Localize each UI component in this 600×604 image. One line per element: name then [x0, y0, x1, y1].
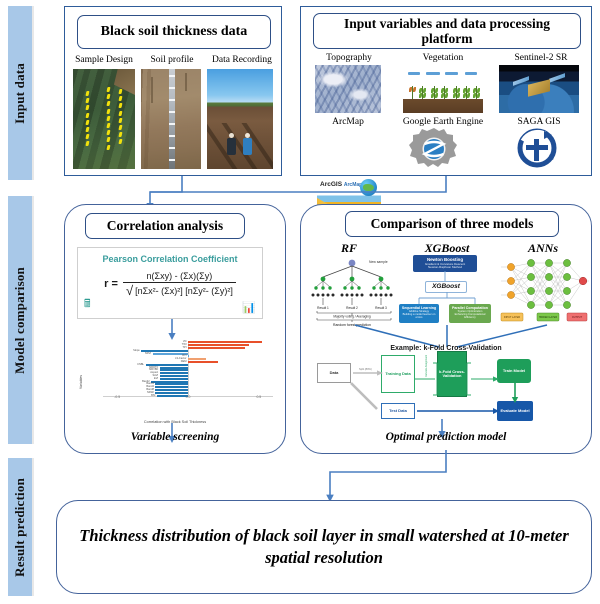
connector-formula-to-chart — [165, 319, 179, 341]
chart-category-label: DEM — [181, 361, 187, 363]
photo-sample-design — [73, 69, 135, 169]
cv-training-data-box: Training Data — [381, 355, 415, 393]
label-variable-screening: Variable screening — [65, 431, 285, 443]
chart-correlation-bars: Variables VDTWITPISlopeNDVIRVILS-FactorD… — [73, 339, 277, 425]
image-vegetation — [403, 65, 483, 113]
pearson-denominator: [nΣx²- (Σx)²] [nΣy²- (Σy)²] — [135, 286, 233, 296]
chart-x-tick: -0.5 — [114, 395, 120, 399]
svg-text:INPUT LAYER: INPUT LAYER — [504, 316, 520, 319]
caption-arcmap: ArcMap — [315, 117, 381, 127]
pearson-denominator-row: √ [nΣx²- (Σx)²] [nΣy²- (Σy)²] — [123, 282, 236, 297]
stage-label-result-prediction: Result prediction — [8, 458, 34, 596]
title-black-soil-thickness-data: Black soil thickness data — [77, 15, 271, 49]
caption-data-recording: Data Recording — [207, 55, 277, 65]
chart-bar: Aspect — [160, 372, 188, 374]
caption-topography: Topography — [311, 53, 387, 63]
chart-category-label: Slope — [133, 350, 140, 352]
panel-comparison-of-three-models: Comparison of three models RF XGBoost AN… — [300, 204, 592, 454]
chart-bar: SAVI — [160, 375, 188, 377]
chart-bar: DEM — [188, 361, 218, 363]
title-correlation-text: Correlation analysis — [107, 218, 223, 233]
chart-bar: TWI — [188, 344, 249, 346]
image-sentinel2-satellite — [499, 65, 579, 113]
caption-vegetation: Vegetation — [405, 53, 481, 63]
chart-bar: Band3 — [155, 383, 188, 385]
svg-text:Result 1: Result 1 — [317, 306, 329, 310]
caption-soil-profile: Soil profile — [141, 55, 203, 65]
chart-x-axis-label: Correlation with Black Soil Thickness — [73, 420, 277, 424]
pearson-card-title: Pearson Correlation Coefficient — [78, 254, 262, 264]
stage-label-input-data: Input data — [8, 6, 34, 180]
logo-arcmap-text: ArcGIS ArcMap — [320, 181, 362, 188]
pearson-formula: r = n(Σxy) - (Σx)(Σy) √ [nΣx²- (Σx)²] [n… — [78, 271, 262, 297]
chart-bar: LS-Factor — [188, 358, 206, 360]
cv-test-data-box: Test Data — [381, 403, 415, 419]
model-name-xgboost: XGBoost — [401, 241, 493, 256]
logo-saga-gis — [513, 125, 561, 171]
model-name-rf: RF — [313, 241, 385, 256]
stage-label-result-prediction-text: Result prediction — [12, 478, 28, 577]
calculator-icon: 🖩 — [84, 295, 91, 314]
cv-kfold-box: k-Fold Cross-Validation — [437, 351, 467, 397]
chart-bar: Band2 — [151, 381, 188, 383]
connector-model-to-result — [0, 450, 600, 506]
chart-bar: MRRTF — [160, 367, 188, 369]
cv-evaluate-model-box: Evaluate Model — [497, 401, 533, 421]
cv-data-box: Data — [317, 363, 351, 383]
chart-y-axis-label: Variables — [79, 375, 83, 389]
bar-chart-icon: 📊 — [242, 301, 256, 314]
svg-text:Result 3: Result 3 — [375, 306, 387, 310]
card-pearson-correlation: Pearson Correlation Coefficient r = n(Σx… — [77, 247, 263, 319]
svg-text:Result 2: Result 2 — [346, 306, 358, 310]
chart-bar: RVI — [188, 355, 189, 357]
image-topography — [315, 65, 381, 113]
svg-text:OUTPUT: OUTPUT — [572, 316, 583, 319]
panel-result-prediction: Thickness distribution of black soil lay… — [56, 500, 592, 594]
title-input-variables: Input variables and data processing plat… — [313, 13, 581, 49]
xgboost-newton-boosting-box: Newton Boosting Gradient & Curvature Des… — [413, 255, 477, 272]
chart-x-tick: 0.5 — [256, 395, 261, 399]
title-input-variables-text: Input variables and data processing plat… — [320, 16, 574, 46]
chart-bar: VD — [188, 341, 262, 343]
diagram-artificial-neural-network: INPUT LAYER HIDDEN LAYER OUTPUT — [497, 253, 589, 325]
photo-data-recording — [207, 69, 273, 169]
chart-bar: BSI — [157, 395, 188, 397]
title-models-text: Comparison of three models — [371, 216, 534, 231]
caption-sentinel2-sr: Sentinel-2 SR — [497, 53, 585, 63]
chart-bar: TPI — [188, 347, 245, 349]
chart-bar: Band4 — [155, 386, 188, 388]
xgboost-sequential-learning-box: Sequential Learning Additive Strategy Bu… — [399, 304, 439, 323]
xgboost-parallel-computation-box: Parallel Computation System Optimization… — [449, 304, 491, 323]
chart-plot-area: VDTWITPISlopeNDVIRVILS-FactorDEMCNBLMRRT… — [103, 341, 273, 407]
radical-symbol: √ — [126, 284, 133, 297]
chart-category-label: BSI — [151, 395, 155, 397]
chart-bar: EVI — [160, 378, 188, 380]
pearson-numerator: n(Σxy) - (Σx)(Σy) — [123, 271, 236, 282]
panel-input-variables-platform: Input variables and data processing plat… — [300, 6, 592, 176]
svg-text:Random forest prediction: Random forest prediction — [333, 323, 371, 327]
svg-text:Random Assignment: Random Assignment — [425, 355, 428, 377]
chart-category-label: NDVI — [145, 353, 151, 355]
photo-soil-profile — [141, 69, 201, 169]
xgboost-center-box: XGBoost — [425, 281, 467, 293]
svg-text:New sample: New sample — [369, 260, 388, 264]
stage-label-model-comparison-text: Model comparison — [12, 267, 28, 374]
chart-category-label: CNBL — [137, 364, 144, 366]
stage-label-model-comparison: Model comparison — [8, 196, 34, 444]
caption-sample-design: Sample Design — [71, 55, 137, 65]
chart-category-label: TPI — [182, 347, 186, 349]
logo-google-earth-engine — [409, 125, 459, 173]
chart-x-tick: 0.0 — [186, 395, 191, 399]
title-correlation-analysis: Correlation analysis — [85, 213, 245, 239]
title-comparison-three-models: Comparison of three models — [345, 211, 559, 237]
chart-bar: Band8 — [155, 389, 188, 391]
pearson-formula-lhs: r = — [104, 278, 118, 290]
diagram-random-forest: New sample — [307, 255, 401, 329]
title-black-soil-text: Black soil thickness data — [101, 24, 248, 40]
chart-category-label: EVI — [154, 378, 158, 380]
label-optimal-prediction-model: Optimal prediction model — [301, 431, 591, 443]
svg-text:HIDDEN LAYER: HIDDEN LAYER — [539, 316, 557, 319]
cv-train-model-box: Train Model — [497, 359, 531, 383]
panel-black-soil-thickness-data: Black soil thickness data Sample Design … — [64, 6, 282, 176]
workflow-diagram: Input data Model comparison Result predi… — [0, 0, 600, 604]
chart-bar: MRVBF — [160, 369, 188, 371]
panel-correlation-analysis: Correlation analysis Pearson Correlation… — [64, 204, 286, 454]
svg-text:Split (80%): Split (80%) — [359, 367, 372, 371]
svg-text:Majority voting / Averaging: Majority voting / Averaging — [333, 315, 371, 319]
result-prediction-text: Thickness distribution of black soil lay… — [57, 501, 591, 593]
stage-label-input-data-text: Input data — [12, 63, 28, 124]
chart-zero-axis — [188, 341, 189, 397]
chart-bar: NDWI — [155, 392, 188, 394]
